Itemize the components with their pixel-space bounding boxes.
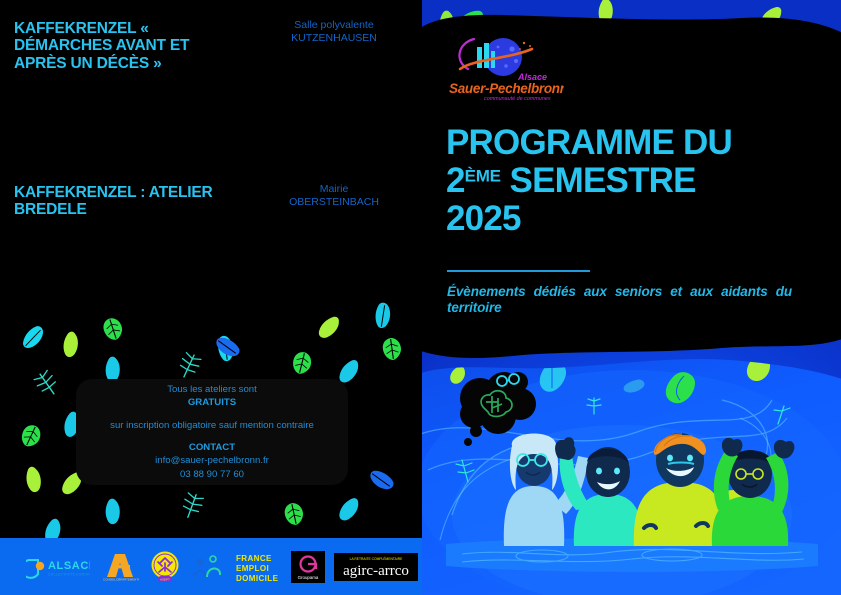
alsace-logo: ALSACE COLLECTIVITÉ EUROPÉENNE	[26, 554, 90, 580]
event-venue-line1: Mairie	[250, 183, 418, 196]
contact-card: Tous les ateliers sont GRATUITS sur insc…	[76, 379, 348, 485]
svg-text:DOMICILE: DOMICILE	[236, 574, 279, 583]
contact-label: CONTACT	[189, 441, 235, 454]
registration-note: sur inscription obligatoire sauf mention…	[110, 419, 314, 432]
sauer-pechelbronn-logo: Alsace Sauer-Pechelbronn communauté de c…	[446, 35, 564, 103]
event-venue-line1: Salle polyvalente	[250, 19, 418, 32]
title-number: 2	[446, 161, 465, 200]
gratuits-label: GRATUITS	[188, 396, 236, 409]
event-title: KAFFEKRENZEL : ATELIER BREDELE	[14, 184, 244, 219]
partner-logo-band: ALSACE COLLECTIVITÉ EUROPÉENNE CONSEIL D…	[0, 538, 422, 595]
page-subtitle: Évènements dédiés aux seniors et aux aid…	[447, 284, 792, 317]
free-workshops-text: Tous les ateliers sont	[167, 383, 257, 396]
asept-logo: ASEPT	[148, 550, 182, 584]
title-line-2-rest: SEMESTRE	[501, 161, 696, 200]
pour-bien-vieillir-logo	[191, 553, 225, 581]
event-venue-line2: OBERSTEINBACH	[250, 196, 418, 209]
svg-text:Groupama: Groupama	[298, 575, 319, 580]
title-line-1: PROGRAMME DU	[446, 125, 816, 160]
event-venue: Mairie OBERSTEINBACH	[250, 183, 418, 208]
conseil-departemental-logo: CONSEIL DÉPARTEMENTAL	[99, 552, 139, 582]
title-divider	[447, 270, 590, 272]
svg-text:agirc-arrco: agirc-arrco	[343, 563, 409, 579]
groupama-logo: Groupama	[291, 551, 325, 583]
agirc-arrco-logo: LA RETRAITE COMPLÉMENTAIRE agirc-arrco	[334, 553, 418, 581]
svg-text:CONSEIL DÉPARTEMENTAL: CONSEIL DÉPARTEMENTAL	[103, 576, 139, 581]
right-panel: Alsace Sauer-Pechelbronn communauté de c…	[422, 0, 841, 595]
svg-text:COLLECTIVITÉ EUROPÉENNE: COLLECTIVITÉ EUROPÉENNE	[48, 571, 90, 576]
contact-email[interactable]: info@sauer-pechelbronn.fr	[155, 454, 269, 467]
title-line-3: 2025	[446, 201, 816, 236]
hero-card-content: Alsace Sauer-Pechelbronn communauté de c…	[422, 0, 841, 370]
event-title: KAFFEKRENZEL « DÉMARCHES AVANT ET APRÈS …	[14, 20, 244, 72]
france-emploi-domicile-logo: FRANCE EMPLOI DOMICILE	[234, 551, 282, 583]
svg-text:ASEPT: ASEPT	[160, 577, 170, 581]
left-panel: KAFFEKRENZEL « DÉMARCHES AVANT ET APRÈS …	[0, 0, 422, 595]
event-venue-line2: KUTZENHAUSEN	[250, 32, 418, 45]
svg-text:ALSACE: ALSACE	[48, 560, 90, 572]
svg-text:EMPLOI: EMPLOI	[236, 564, 269, 573]
contact-phone[interactable]: 03 88 90 77 60	[180, 468, 244, 481]
svg-text:LA RETRAITE COMPLÉMENTAIRE: LA RETRAITE COMPLÉMENTAIRE	[350, 556, 403, 561]
svg-text:FRANCE: FRANCE	[236, 554, 272, 563]
title-ordinal: ÈME	[465, 166, 501, 185]
event-venue: Salle polyvalente KUTZENHAUSEN	[250, 19, 418, 44]
leaf-decoration-layer	[0, 0, 422, 595]
svg-text:Sauer-Pechelbronn: Sauer-Pechelbronn	[449, 81, 564, 96]
seniors-waving-illustration	[422, 340, 841, 595]
page-title: PROGRAMME DU 2ÈME SEMESTRE 2025	[446, 125, 816, 236]
title-line-2: 2ÈME SEMESTRE	[446, 163, 816, 198]
brochure-page: KAFFEKRENZEL « DÉMARCHES AVANT ET APRÈS …	[0, 0, 841, 595]
svg-text:communauté de communes: communauté de communes	[484, 96, 551, 102]
